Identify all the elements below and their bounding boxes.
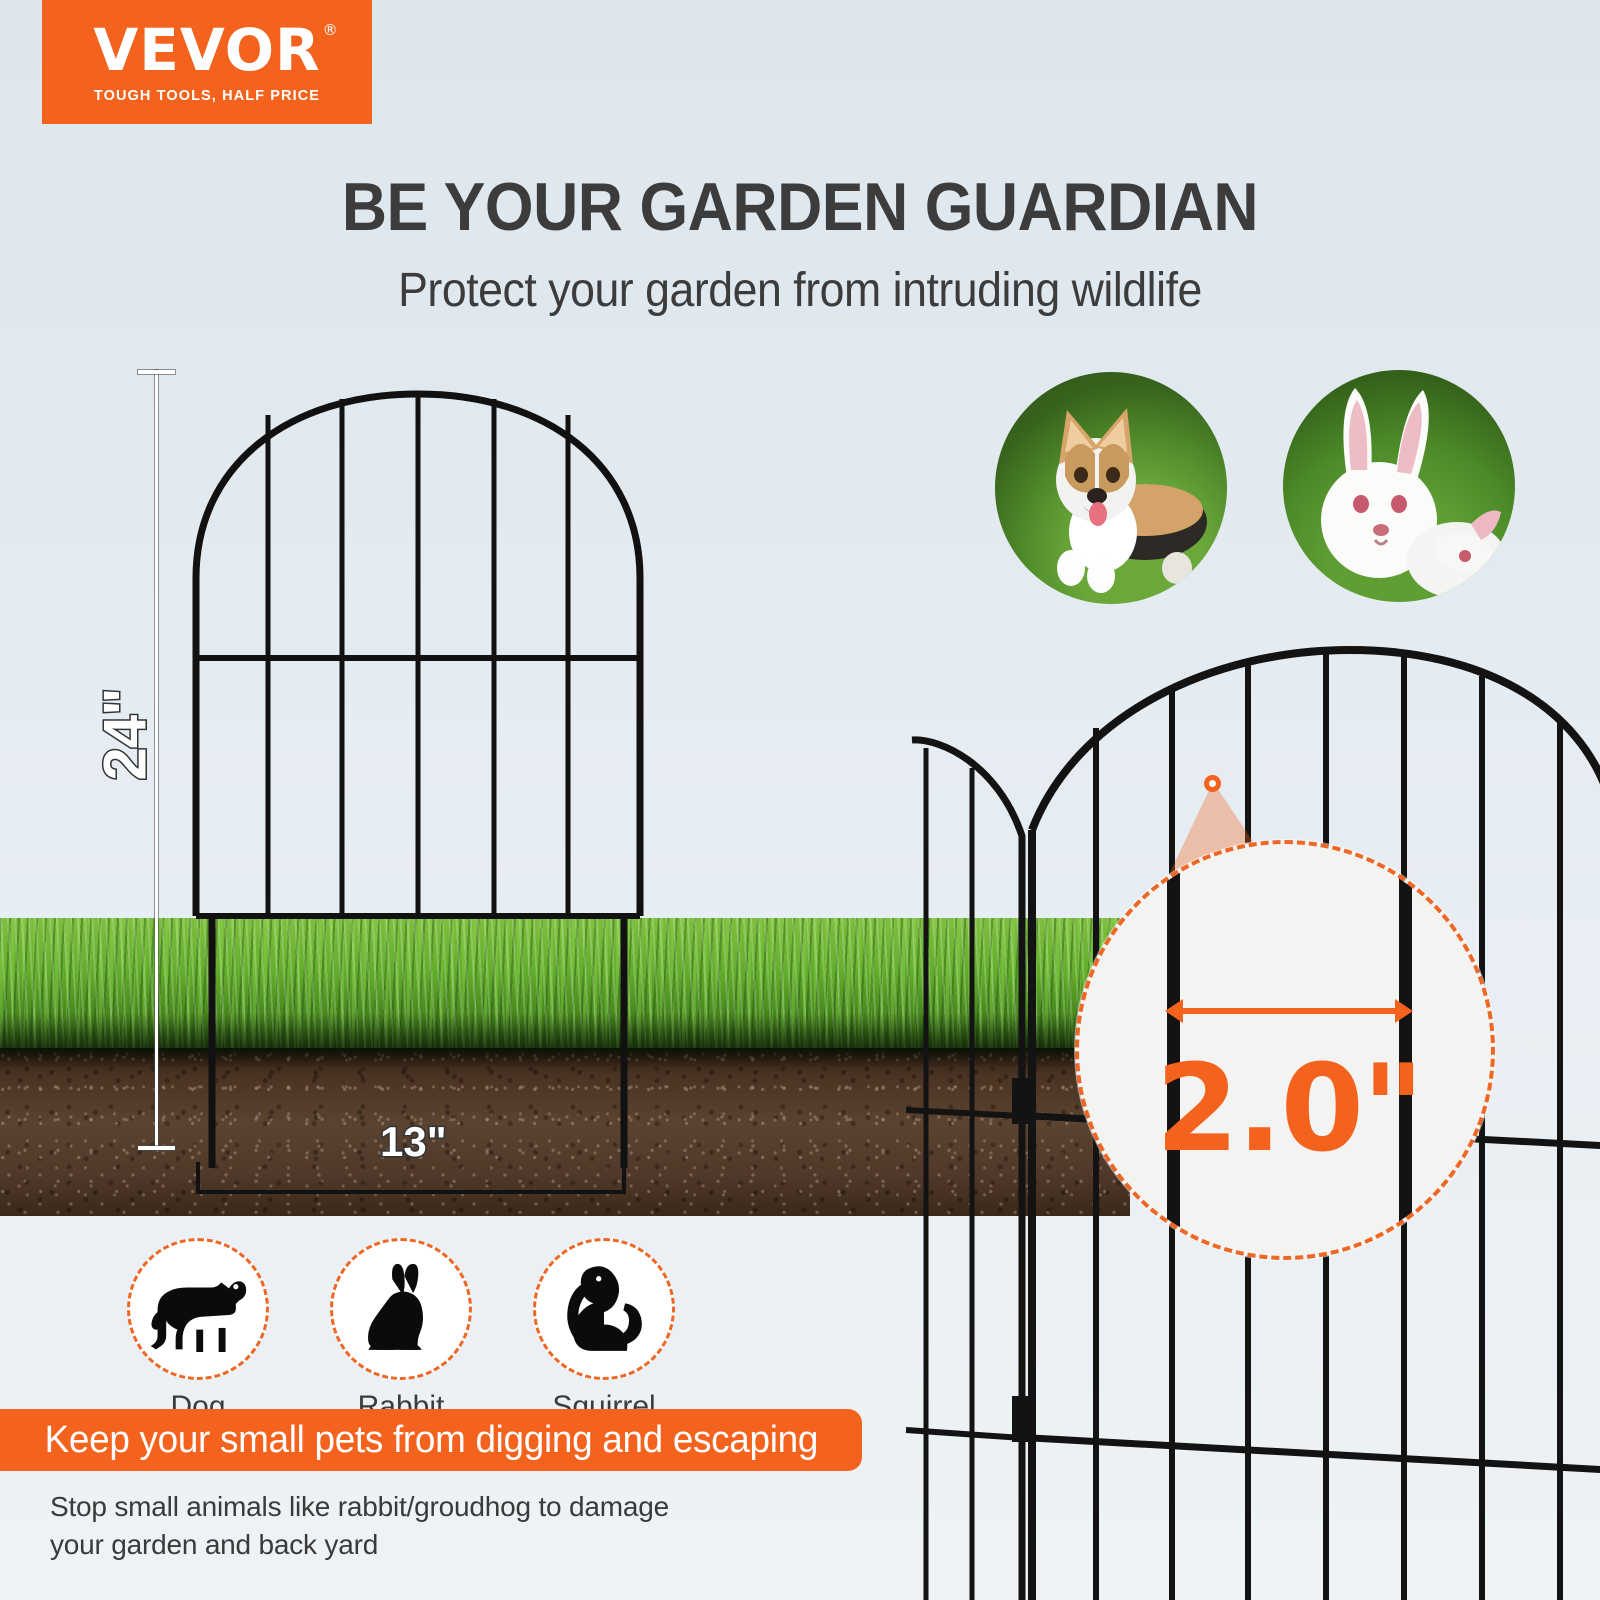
- animal-item-dog: Dog: [127, 1238, 269, 1380]
- feature-banner: Keep your small pets from digging and es…: [0, 1409, 862, 1471]
- vevor-logo: VEVOR® TOUGH TOOLS, HALF PRICE: [42, 0, 372, 124]
- brand-wordmark: VEVOR®: [93, 21, 320, 79]
- dimension-cap-left: [196, 1162, 200, 1194]
- dimension-cap-right: [622, 1162, 626, 1194]
- animal-item-squirrel: Squirrel: [533, 1238, 675, 1380]
- rabbit-silhouette-icon: [330, 1238, 472, 1380]
- infographic-canvas: VEVOR® TOUGH TOOLS, HALF PRICE BE YOUR G…: [0, 0, 1600, 1600]
- page-headline: BE YOUR GARDEN GUARDIAN: [64, 168, 1536, 246]
- dimension-cap-bottom: [138, 1146, 175, 1150]
- width-dimension-line: [196, 1190, 626, 1194]
- fence-panel-front: [190, 368, 646, 968]
- registered-mark: ®: [323, 23, 339, 38]
- feature-banner-text: Keep your small pets from digging and es…: [0, 1419, 818, 1462]
- width-dimension-label: 13": [380, 1118, 447, 1166]
- magnifier-origin-dot: [1204, 775, 1221, 792]
- rabbit-photo: [1283, 370, 1515, 602]
- dog-photo: [995, 372, 1227, 604]
- height-dimension-label: 24": [91, 688, 160, 780]
- brand-tagline: TOUGH TOOLS, HALF PRICE: [94, 88, 320, 104]
- dog-silhouette-icon: [127, 1238, 269, 1380]
- squirrel-silhouette-icon: [533, 1238, 675, 1380]
- body-copy-line-2: your garden and back yard: [50, 1526, 810, 1564]
- animal-item-rabbit: Rabbit: [330, 1238, 472, 1380]
- body-copy-line-1: Stop small animals like rabbit/groudhog …: [50, 1488, 810, 1526]
- gap-arrow-icon: [1179, 1008, 1399, 1014]
- body-copy: Stop small animals like rabbit/groudhog …: [50, 1488, 810, 1563]
- page-subheadline: Protect your garden from intruding wildl…: [56, 263, 1544, 318]
- dimension-cap-top: [138, 370, 175, 374]
- gap-magnifier: 2.0": [1075, 840, 1495, 1260]
- gap-dimension-label: 2.0": [1079, 1040, 1495, 1179]
